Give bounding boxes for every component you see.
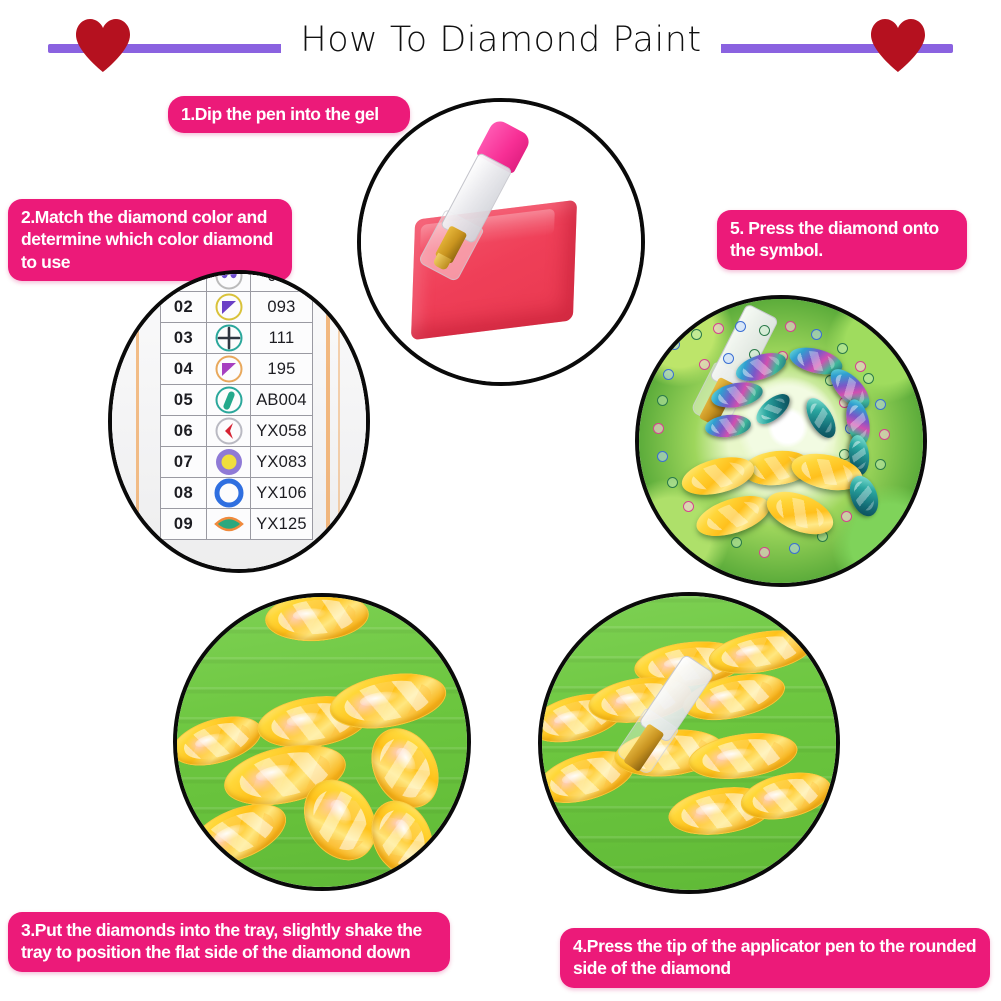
chart-cell-code: YX058 bbox=[251, 416, 313, 447]
canvas-symbol bbox=[837, 343, 848, 354]
chart-cell-no: 02 bbox=[161, 292, 207, 323]
step-5-label: 5. Press the diamond onto the symbol. bbox=[717, 210, 967, 270]
chart-cell-code: 020 bbox=[251, 270, 313, 292]
color-chart-row: 01020 bbox=[161, 270, 313, 292]
chart-cell-symbol bbox=[207, 354, 251, 385]
chart-cell-code: AB004 bbox=[251, 385, 313, 416]
chart-cell-symbol bbox=[207, 270, 251, 292]
chart-cell-no: 01 bbox=[161, 270, 207, 292]
color-chart-row: 09YX125 bbox=[161, 509, 313, 540]
canvas-symbol bbox=[759, 325, 770, 336]
photo-color-chart: 0102002093031110419505AB00406YX05807YX08… bbox=[108, 270, 370, 573]
color-chart-row: 05AB004 bbox=[161, 385, 313, 416]
chart-cell-no: 07 bbox=[161, 447, 207, 478]
canvas-symbol bbox=[879, 429, 890, 440]
filled-dot-icon bbox=[214, 447, 244, 477]
canvas-symbol bbox=[875, 459, 886, 470]
chart-cell-no: 04 bbox=[161, 354, 207, 385]
canvas-symbol bbox=[735, 321, 746, 332]
canvas-symbol bbox=[683, 501, 694, 512]
color-chart-row: 07YX083 bbox=[161, 447, 313, 478]
chart-cell-code: 195 bbox=[251, 354, 313, 385]
canvas-symbol bbox=[855, 361, 866, 372]
chart-cell-symbol bbox=[207, 509, 251, 540]
heart-right-icon bbox=[869, 17, 927, 73]
color-chart-row: 04195 bbox=[161, 354, 313, 385]
chart-cell-code: YX125 bbox=[251, 509, 313, 540]
photo-press-onto-symbol bbox=[635, 295, 927, 587]
chart-cell-symbol bbox=[207, 292, 251, 323]
canvas-symbol bbox=[713, 323, 724, 334]
canvas-symbol bbox=[669, 339, 680, 350]
filled-triangle-icon bbox=[214, 292, 244, 322]
chart-cell-symbol bbox=[207, 416, 251, 447]
chart-cell-no: 09 bbox=[161, 509, 207, 540]
leaf-icon bbox=[214, 509, 244, 539]
chart-cell-code: YX083 bbox=[251, 447, 313, 478]
canvas-symbol bbox=[789, 543, 800, 554]
photo-dip-pen-into-gel bbox=[357, 98, 645, 386]
ring-icon bbox=[214, 478, 244, 508]
canvas-symbol bbox=[653, 423, 664, 434]
canvas-symbol bbox=[785, 321, 796, 332]
chart-cell-symbol bbox=[207, 478, 251, 509]
chart-cell-symbol bbox=[207, 447, 251, 478]
canvas-symbol bbox=[875, 399, 886, 410]
plus-icon bbox=[214, 323, 244, 353]
canvas-symbol bbox=[731, 537, 742, 548]
chart-cell-no: 03 bbox=[161, 323, 207, 354]
photo-diamonds-in-tray bbox=[173, 593, 471, 891]
canvas-symbol bbox=[759, 547, 770, 558]
canvas-symbol bbox=[657, 451, 668, 462]
infographic-page: How To Diamond Paint 1.Dip the pen into … bbox=[0, 0, 1001, 1001]
double-dot-icon bbox=[214, 270, 244, 291]
canvas-symbol bbox=[691, 329, 702, 340]
color-chart-row: 02093 bbox=[161, 292, 313, 323]
diagonal-bar-icon bbox=[214, 385, 244, 415]
step-3-label: 3.Put the diamonds into the tray, slight… bbox=[8, 912, 450, 972]
chart-cell-code: YX106 bbox=[251, 478, 313, 509]
canvas-symbol bbox=[667, 477, 678, 488]
filled-triangle-icon bbox=[214, 354, 244, 384]
canvas-symbol bbox=[657, 395, 668, 406]
chart-cell-code: 093 bbox=[251, 292, 313, 323]
page-title: How To Diamond Paint bbox=[281, 18, 721, 62]
photo-pen-picks-diamond bbox=[538, 592, 840, 894]
chart-cell-no: 06 bbox=[161, 416, 207, 447]
canvas-symbol bbox=[841, 511, 852, 522]
canvas-symbol bbox=[863, 373, 874, 384]
canvas-symbol bbox=[699, 359, 710, 370]
canvas-symbol bbox=[723, 353, 734, 364]
chart-cell-code: 111 bbox=[251, 323, 313, 354]
left-chevron-icon bbox=[214, 416, 244, 446]
step-2-label: 2.Match the diamond color and determine … bbox=[8, 199, 292, 281]
heart-left-icon bbox=[74, 17, 132, 73]
canvas-symbol bbox=[811, 329, 822, 340]
chart-cell-symbol bbox=[207, 385, 251, 416]
chart-cell-no: 05 bbox=[161, 385, 207, 416]
diamond-color-chart-table: 0102002093031110419505AB00406YX05807YX08… bbox=[160, 270, 313, 540]
chart-cell-symbol bbox=[207, 323, 251, 354]
color-chart-row: 03111 bbox=[161, 323, 313, 354]
color-chart-row: 06YX058 bbox=[161, 416, 313, 447]
step-4-label: 4.Press the tip of the applicator pen to… bbox=[560, 928, 990, 988]
canvas-symbol bbox=[663, 369, 674, 380]
color-chart-row: 08YX106 bbox=[161, 478, 313, 509]
chart-cell-no: 08 bbox=[161, 478, 207, 509]
